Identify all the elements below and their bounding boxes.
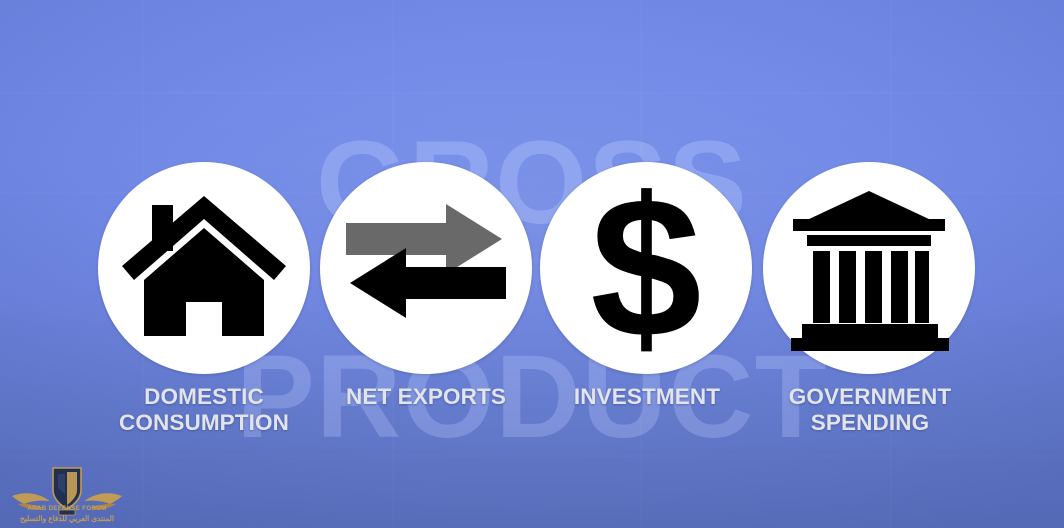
icon-row: $ [0,162,1064,374]
icon-disc-net-exports[interactable] [320,162,532,374]
house-icon [98,162,310,374]
svg-text:$: $ [590,162,701,374]
label-investment: INVESTMENT [534,384,760,410]
label-government-spending: GOVERNMENT SPENDING [750,384,990,436]
forum-logo-name-en: ARAB DEFENSE FORUM [8,506,126,512]
label-row: DOMESTIC CONSUMPTION NET EXPORTS INVESTM… [0,384,1064,464]
label-net-exports: NET EXPORTS [314,384,538,410]
icon-disc-investment[interactable]: $ [540,162,752,374]
icon-disc-domestic-consumption[interactable] [98,162,310,374]
classical-bank-building-icon [763,162,975,374]
gdp-components-slide: GROSS PRODUCT $ [0,0,1064,528]
label-domestic-consumption: DOMESTIC CONSUMPTION [84,384,324,436]
two-way-arrows-icon [320,162,532,374]
icon-disc-government-spending[interactable] [763,162,975,374]
forum-logo-name-ar: المنتدى العربي للدفاع والتسليح [8,515,126,522]
arab-defense-forum-logo: ARAB DEFENSE FORUM المنتدى العربي للدفاع… [8,460,126,526]
dollar-sign-icon: $ [540,162,752,374]
